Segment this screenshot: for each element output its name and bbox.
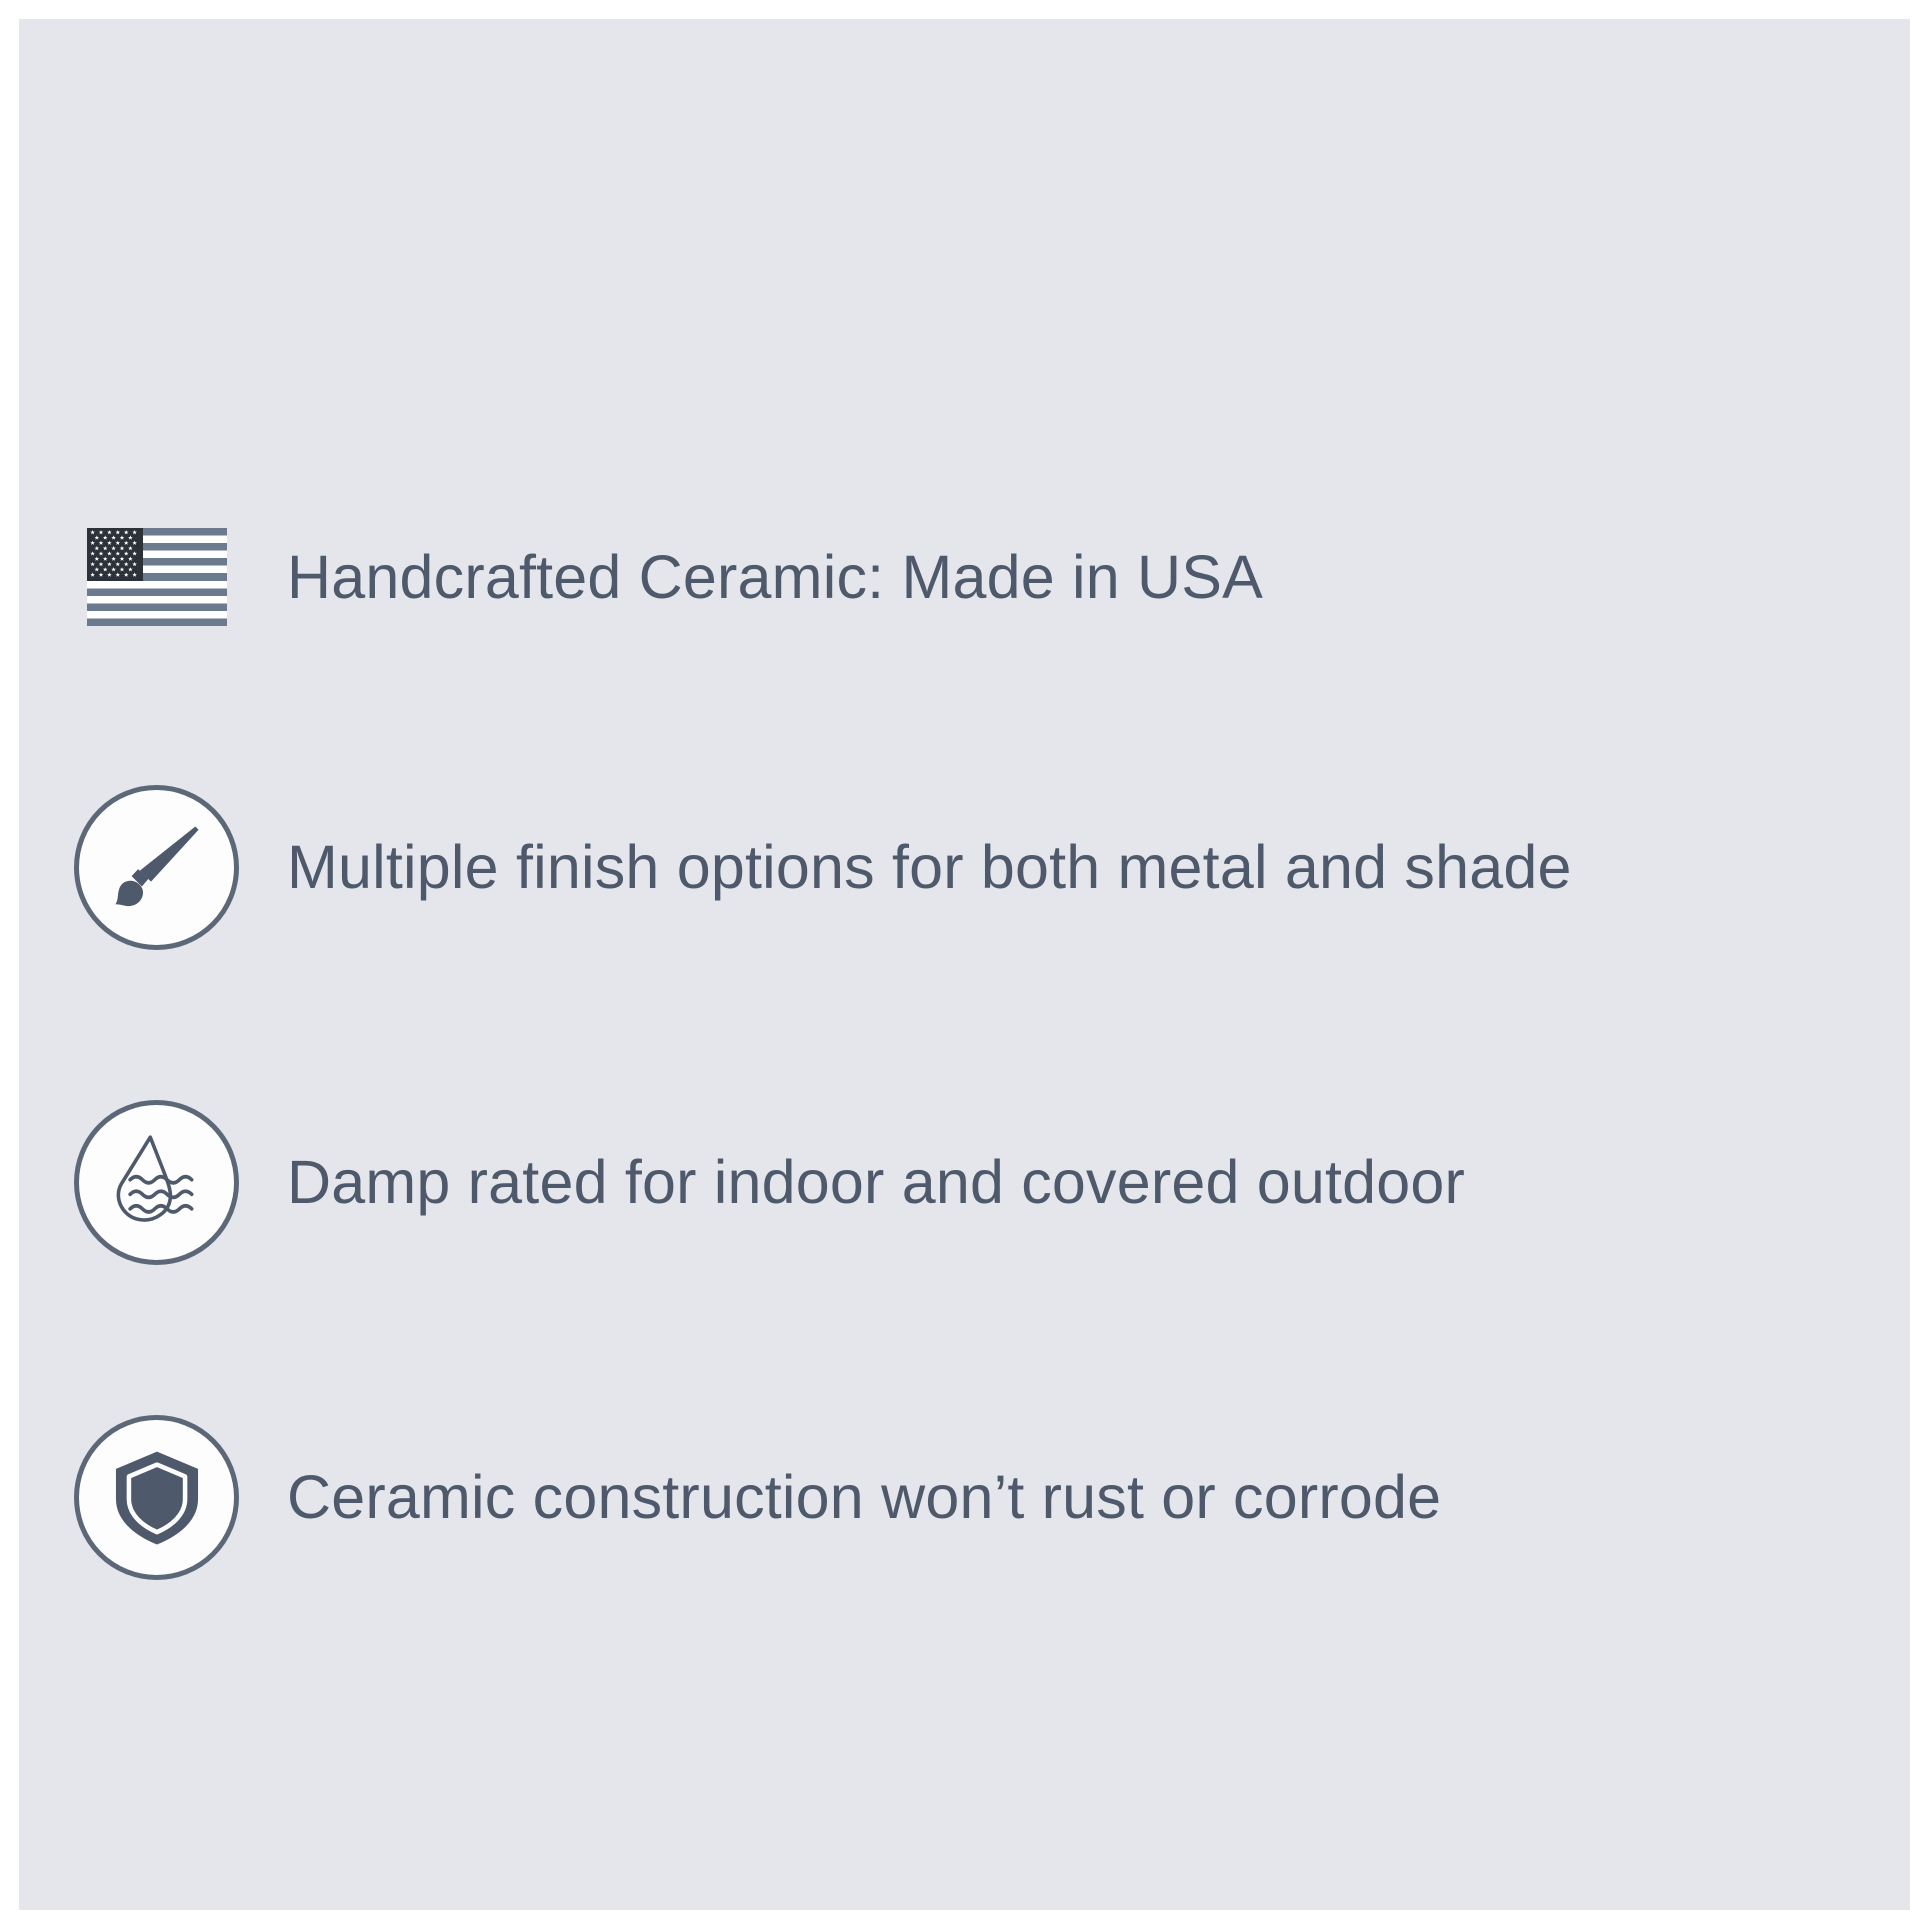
feature-list: Handcrafted Ceramic: Made in USA bbox=[19, 19, 1910, 1910]
product-feature-callout-graphic: Handcrafted Ceramic: Made in USA bbox=[0, 0, 1928, 1928]
water-droplet-waves-icon-badge bbox=[74, 1100, 239, 1265]
feature-label: Handcrafted Ceramic: Made in USA bbox=[287, 547, 1263, 608]
feature-icon-slot bbox=[69, 487, 244, 667]
list-item: Ceramic construction won’t rust or corro… bbox=[69, 1407, 1441, 1587]
shield-icon bbox=[103, 1443, 211, 1551]
feature-icon-slot bbox=[69, 1407, 244, 1587]
feature-label: Ceramic construction won’t rust or corro… bbox=[287, 1467, 1441, 1528]
shield-icon-badge bbox=[74, 1415, 239, 1580]
feature-label: Damp rated for indoor and covered outdoo… bbox=[287, 1152, 1465, 1213]
list-item: Multiple finish options for both metal a… bbox=[69, 777, 1572, 957]
us-flag-icon bbox=[87, 528, 227, 626]
flag-stars bbox=[87, 528, 143, 581]
flag-canton bbox=[87, 528, 143, 581]
feature-icon-slot bbox=[69, 1092, 244, 1272]
list-item: Handcrafted Ceramic: Made in USA bbox=[69, 487, 1263, 667]
paintbrush-icon-badge bbox=[74, 785, 239, 950]
water-droplet-waves-icon bbox=[101, 1126, 213, 1238]
feature-label: Multiple finish options for both metal a… bbox=[287, 837, 1572, 898]
feature-icon-slot bbox=[69, 777, 244, 957]
list-item: Damp rated for indoor and covered outdoo… bbox=[69, 1092, 1465, 1272]
paintbrush-icon bbox=[103, 813, 211, 921]
feature-panel: Handcrafted Ceramic: Made in USA bbox=[19, 19, 1910, 1910]
